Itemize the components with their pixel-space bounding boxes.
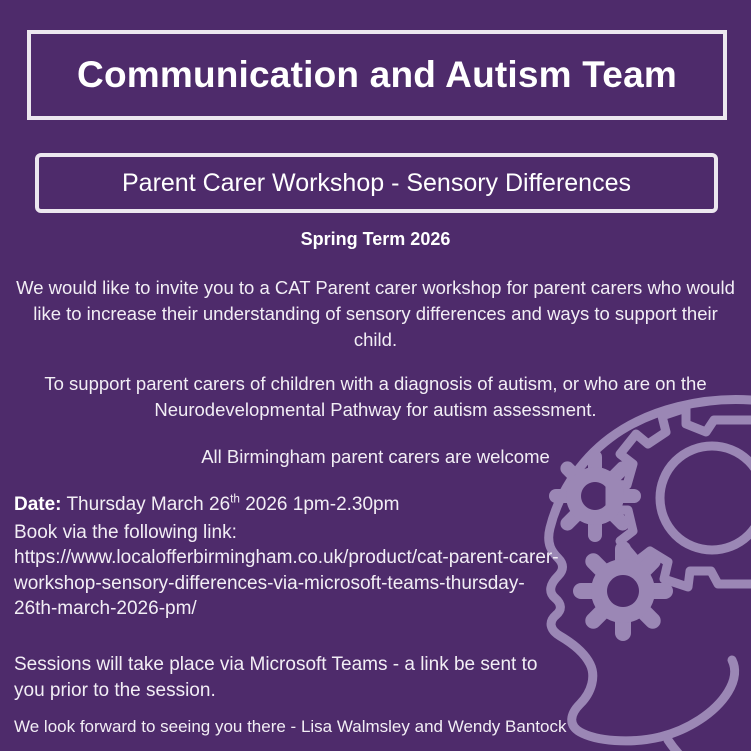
poster-canvas: Communication and Autism Team Parent Car… (0, 0, 751, 751)
date-value-after: 2026 1pm-2.30pm (240, 494, 400, 515)
signoff-line: We look forward to seeing you there - Li… (14, 714, 574, 740)
date-value-before: Thursday March 26 (62, 494, 231, 515)
booking-url[interactable]: https://www.localofferbirmingham.co.uk/p… (14, 545, 559, 622)
date-ordinal-suffix: th (230, 493, 240, 506)
date-label: Date: (14, 494, 62, 515)
eligibility-paragraph: To support parent carers of children wit… (14, 371, 737, 423)
booking-prompt: Book via the following link: (14, 520, 554, 546)
invitation-paragraph: We would like to invite you to a CAT Par… (14, 275, 737, 353)
welcome-paragraph: All Birmingham parent carers are welcome (14, 444, 737, 470)
date-line: Date: Thursday March 26th 2026 1pm-2.30p… (14, 492, 554, 518)
subtitle-box: Parent Carer Workshop - Sensory Differen… (35, 153, 718, 213)
title-box: Communication and Autism Team (27, 30, 727, 120)
workshop-subtitle: Parent Carer Workshop - Sensory Differen… (122, 169, 631, 198)
page-title: Communication and Autism Team (77, 54, 677, 96)
delivery-note: Sessions will take place via Microsoft T… (14, 652, 549, 703)
term-label: Spring Term 2026 (0, 229, 751, 250)
